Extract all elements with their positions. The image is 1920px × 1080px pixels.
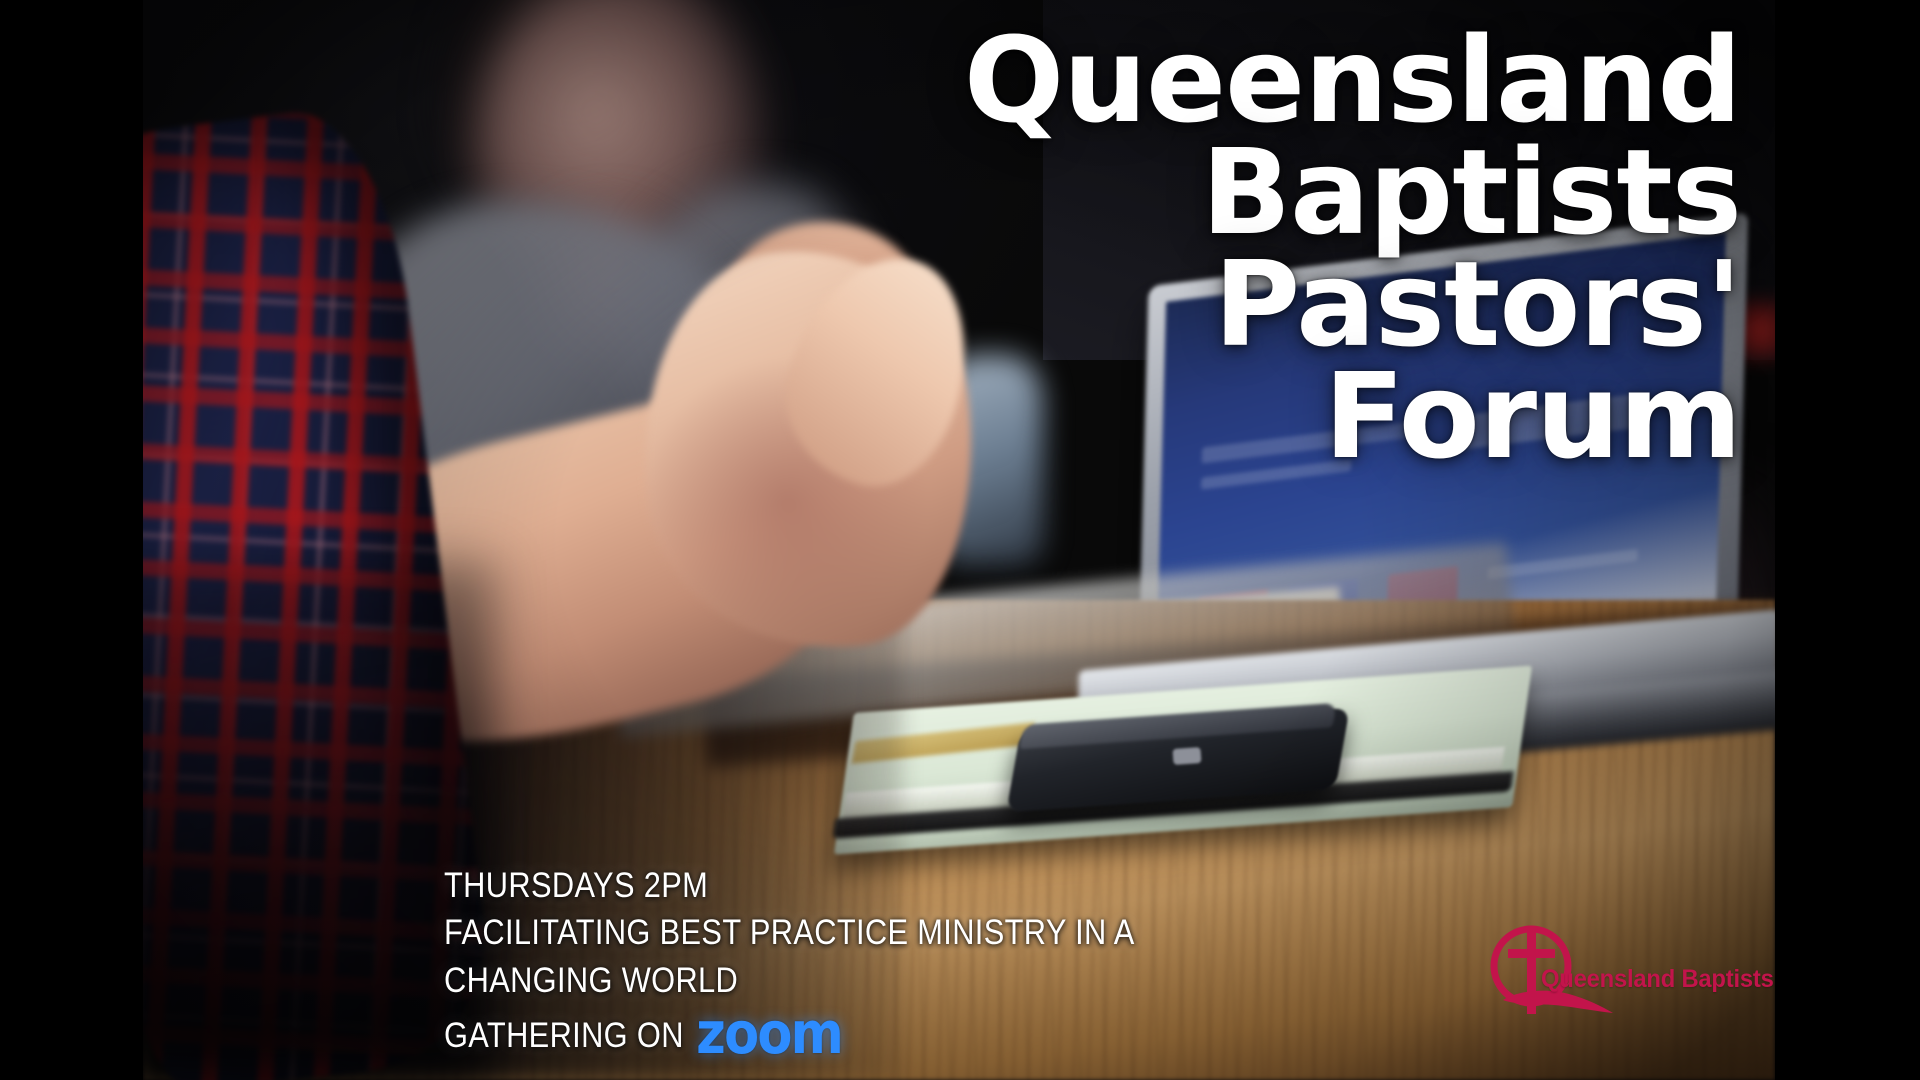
screen-ui-bar [1488, 549, 1638, 580]
headline-line-4: Forum [964, 360, 1741, 472]
foreground-shadow [143, 560, 493, 1080]
headline-line-1: Queensland [964, 24, 1741, 136]
letterbox-bar-right [1775, 0, 1920, 1080]
slide-canvas: Queensland Baptists Pastors' Forum THURS… [0, 0, 1920, 1080]
zoom-logo: zoom [696, 1010, 842, 1056]
queensland-baptists-logo: Queensland Baptists [1483, 916, 1739, 1024]
headline-line-3: Pastors' [964, 248, 1741, 360]
event-time: THURSDAYS 2PM [444, 862, 1135, 909]
page-title: Queensland Baptists Pastors' Forum [964, 24, 1741, 472]
headline-line-2: Baptists [964, 136, 1741, 248]
event-details: THURSDAYS 2PM FACILITATING BEST PRACTICE… [444, 862, 1135, 1059]
smartphone-port [1172, 747, 1201, 765]
letterbox-bar-left [0, 0, 143, 1080]
gathering-platform-row: GATHERING ON zoom [444, 1004, 1135, 1059]
logo-wordmark: Queensland Baptists [1541, 965, 1774, 994]
gathering-prefix: GATHERING ON [444, 1012, 684, 1059]
event-tagline-line-2: CHANGING WORLD [444, 957, 1135, 1004]
event-tagline-line-1: FACILITATING BEST PRACTICE MINISTRY IN A [444, 909, 1135, 956]
